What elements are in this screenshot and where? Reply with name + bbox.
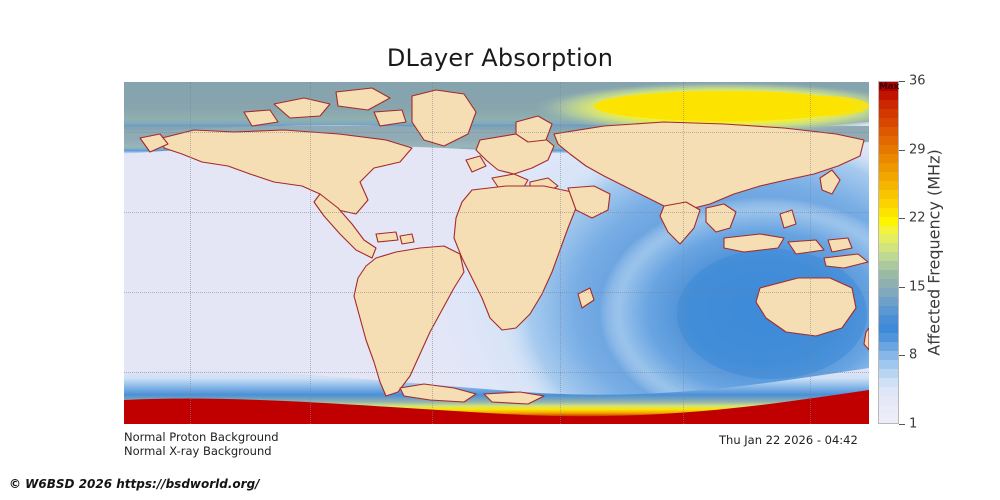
colorbar-step bbox=[879, 118, 898, 127]
colorbar-step bbox=[879, 190, 898, 199]
colorbar-step bbox=[879, 217, 898, 226]
colorbar-step bbox=[879, 145, 898, 154]
colorbar-step bbox=[879, 306, 898, 315]
colorbar-step bbox=[879, 279, 898, 288]
colorbar-tick-label: 8 bbox=[909, 348, 917, 363]
colorbar-step bbox=[879, 288, 898, 297]
colorbar-step bbox=[879, 261, 898, 270]
colorbar-tick bbox=[899, 287, 905, 288]
colorbar-step bbox=[879, 387, 898, 396]
colorbar-step bbox=[879, 396, 898, 405]
colorbar-step bbox=[879, 127, 898, 136]
colorbar-tick bbox=[899, 424, 905, 425]
colorbar-step bbox=[879, 109, 898, 118]
world-map-plot[interactable] bbox=[124, 82, 869, 424]
colorbar-tick bbox=[899, 218, 905, 219]
colorbar-step bbox=[879, 360, 898, 369]
colorbar-step bbox=[879, 315, 898, 324]
colorbar-step bbox=[879, 100, 898, 109]
colorbar-step bbox=[879, 181, 898, 190]
colorbar-step bbox=[879, 324, 898, 333]
colorbar-step bbox=[879, 351, 898, 360]
colorbar-step bbox=[879, 163, 898, 172]
colorbar-step bbox=[879, 369, 898, 378]
colorbar-max-label: Max bbox=[879, 82, 899, 93]
colorbar-step bbox=[879, 405, 898, 414]
proton-background-note: Normal Proton Background bbox=[124, 430, 279, 444]
colorbar-step bbox=[879, 378, 898, 387]
absorption-map-svg bbox=[124, 82, 869, 424]
colorbar-step bbox=[879, 172, 898, 181]
colorbar-tick bbox=[899, 81, 905, 82]
colorbar-axis-label-text: Affected Frequency (MHz) bbox=[925, 149, 944, 355]
colorbar-step bbox=[879, 199, 898, 208]
colorbar-step bbox=[879, 270, 898, 279]
colorbar-step bbox=[879, 297, 898, 306]
colorbar-step bbox=[879, 414, 898, 423]
colorbar-step bbox=[879, 243, 898, 252]
page-title: DLayer Absorption bbox=[0, 44, 1000, 72]
colorbar-step bbox=[879, 342, 898, 351]
copyright-label: © W6BSD 2026 https://bsdworld.org/ bbox=[9, 477, 260, 491]
colorbar-step bbox=[879, 333, 898, 342]
colorbar-axis-label: Affected Frequency (MHz) bbox=[922, 81, 946, 424]
colorbar-step bbox=[879, 208, 898, 217]
colorbar-tick bbox=[899, 150, 905, 151]
timestamp-label: Thu Jan 22 2026 - 04:42 bbox=[719, 433, 858, 447]
colorbar-step bbox=[879, 136, 898, 145]
xray-background-note: Normal X-ray Background bbox=[124, 444, 272, 458]
colorbar-step bbox=[879, 234, 898, 243]
colorbar-gradient bbox=[878, 81, 899, 424]
colorbar-step bbox=[879, 154, 898, 163]
colorbar-tick bbox=[899, 355, 905, 356]
colorbar-step bbox=[879, 252, 898, 261]
colorbar[interactable]: Max bbox=[878, 81, 899, 424]
colorbar-step bbox=[879, 226, 898, 235]
colorbar-tick-label: 1 bbox=[909, 417, 917, 432]
